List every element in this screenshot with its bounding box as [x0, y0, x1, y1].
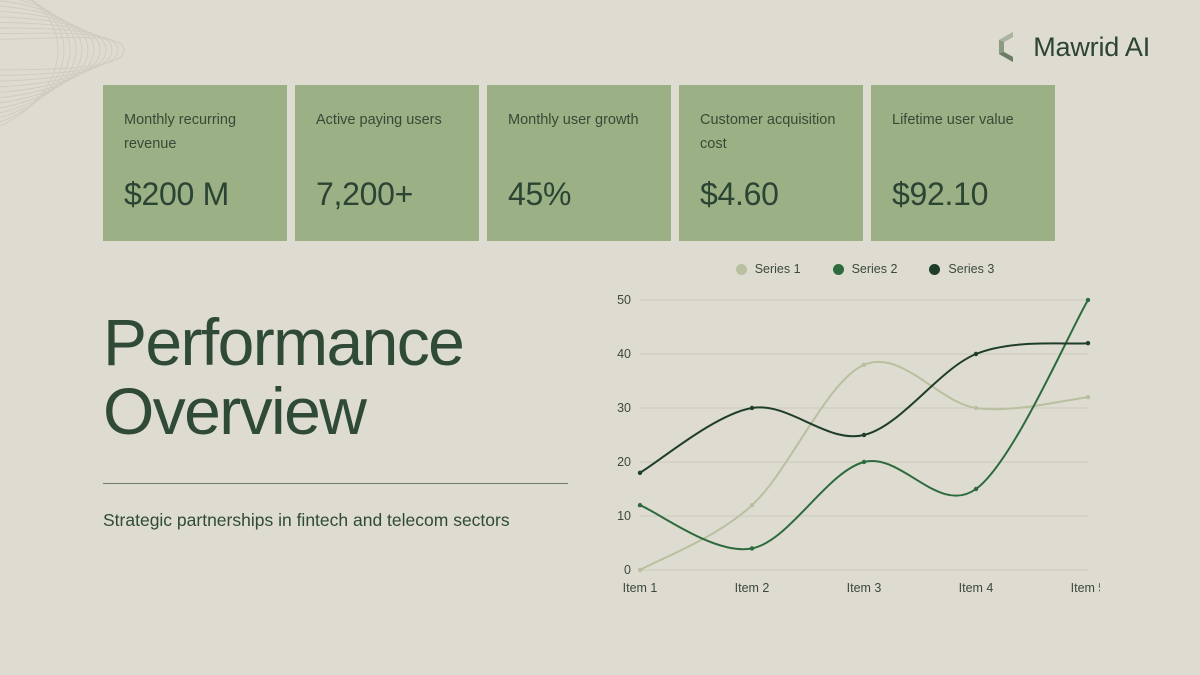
y-axis-tick-label: 50: [617, 293, 631, 307]
kpi-label: Lifetime user value: [892, 109, 1034, 133]
y-axis-tick-label: 40: [617, 347, 631, 361]
y-axis-tick-label: 0: [624, 563, 631, 577]
x-axis-tick-label: Item 3: [847, 581, 882, 595]
page-title: Performance Overview: [103, 308, 573, 447]
chart-data-point: [638, 568, 642, 572]
y-axis-tick-label: 10: [617, 509, 631, 523]
chart-data-point: [750, 406, 754, 410]
brand-name: Mawrid AI: [1033, 32, 1150, 63]
kpi-card-customer-acquisition-cost: Customer acquisition cost $4.60: [679, 85, 863, 241]
headline-block: Performance Overview Strategic partnersh…: [103, 308, 573, 534]
chart-line-series-1: [640, 362, 1088, 570]
x-axis-tick-label: Item 1: [623, 581, 658, 595]
page-title-line-1: Performance: [103, 305, 463, 379]
legend-item-series-2[interactable]: Series 2: [833, 262, 898, 276]
legend-swatch-icon: [833, 264, 844, 275]
kpi-value: 7,200+: [316, 176, 458, 213]
kpi-value: $200 M: [124, 176, 266, 213]
chart-data-point: [1086, 395, 1090, 399]
kpi-value: $4.60: [700, 176, 842, 213]
x-axis-tick-label: Item 4: [959, 581, 994, 595]
chart-legend: Series 1 Series 2 Series 3: [630, 262, 1100, 276]
legend-label: Series 2: [852, 262, 898, 276]
brand-logo: Mawrid AI: [992, 30, 1150, 64]
chart-data-point: [862, 460, 866, 464]
kpi-label: Active paying users: [316, 109, 458, 133]
chart-data-point: [974, 406, 978, 410]
kpi-card-lifetime-user-value: Lifetime user value $92.10: [871, 85, 1055, 241]
legend-swatch-icon: [736, 264, 747, 275]
chart-data-point: [638, 503, 642, 507]
kpi-value: 45%: [508, 176, 650, 213]
kpi-card-active-paying-users: Active paying users 7,200+: [295, 85, 479, 241]
legend-item-series-3[interactable]: Series 3: [929, 262, 994, 276]
kpi-label: Monthly recurring revenue: [124, 109, 266, 157]
y-axis-tick-label: 20: [617, 455, 631, 469]
kpi-label: Monthly user growth: [508, 109, 650, 133]
kpi-card-row: Monthly recurring revenue $200 M Active …: [103, 85, 1055, 241]
kpi-card-monthly-user-growth: Monthly user growth 45%: [487, 85, 671, 241]
chart-data-point: [750, 546, 754, 550]
page-subtitle: Strategic partnerships in fintech and te…: [103, 506, 573, 534]
legend-swatch-icon: [929, 264, 940, 275]
kpi-value: $92.10: [892, 176, 1034, 213]
divider: [103, 483, 568, 484]
chart-data-point: [974, 352, 978, 356]
chart-data-point: [862, 433, 866, 437]
kpi-label: Customer acquisition cost: [700, 109, 842, 157]
hexagon-c-logo-icon: [992, 30, 1022, 64]
legend-label: Series 1: [755, 262, 801, 276]
chart-data-point: [750, 503, 754, 507]
chart-data-point: [638, 471, 642, 475]
chart-line-series-2: [640, 300, 1088, 549]
legend-label: Series 3: [948, 262, 994, 276]
chart-plot-area: 01020304050Item 1Item 2Item 3Item 4Item …: [600, 286, 1100, 604]
kpi-card-monthly-recurring-revenue: Monthly recurring revenue $200 M: [103, 85, 287, 241]
page-title-line-2: Overview: [103, 374, 365, 448]
legend-item-series-1[interactable]: Series 1: [736, 262, 801, 276]
x-axis-tick-label: Item 5: [1071, 581, 1100, 595]
chart-data-point: [862, 363, 866, 367]
chart-data-point: [974, 487, 978, 491]
performance-chart: Series 1 Series 2 Series 3 01020304050It…: [600, 262, 1100, 612]
y-axis-tick-label: 30: [617, 401, 631, 415]
chart-data-point: [1086, 298, 1090, 302]
x-axis-tick-label: Item 2: [735, 581, 770, 595]
chart-data-point: [1086, 341, 1090, 345]
